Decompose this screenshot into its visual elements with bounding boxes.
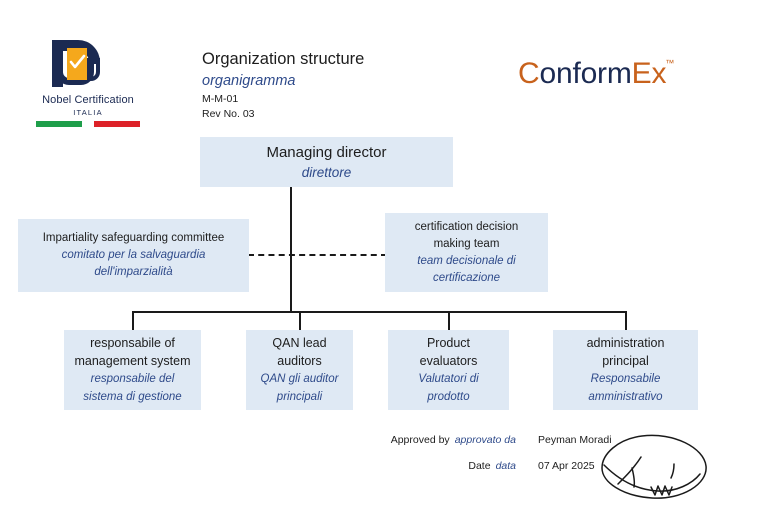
connector-drop-administration <box>625 311 627 331</box>
node-label-it-line2: prodotto <box>427 388 469 406</box>
date-row: Datedata 07 Apr 2025 <box>386 460 646 472</box>
node-label-it-line1: comitato per la salvaguardia <box>62 247 206 264</box>
date-value: 07 Apr 2025 <box>538 460 595 472</box>
page-title: Organization structure <box>202 48 364 70</box>
node-label-en: Managing director <box>266 142 386 163</box>
node-label-it-line2: sistema di gestione <box>83 388 181 406</box>
conformex-logo: ConformEx™ <box>518 52 675 91</box>
node-label-en-line1: responsabile of <box>90 334 175 352</box>
node-label-it-line1: Responsabile <box>591 370 661 388</box>
approval-block: Approved byapprovato da Peyman Moradi Da… <box>386 434 646 486</box>
node-certification-decision-making-team[interactable]: certification decision making team team … <box>385 213 548 292</box>
brand-part-ex: Ex <box>632 57 667 90</box>
approved-by-value: Peyman Moradi <box>538 434 612 446</box>
node-label-it: direttore <box>302 163 352 183</box>
node-label-it-line1: Valutatori di <box>418 370 478 388</box>
nobel-logo-icon <box>22 34 154 92</box>
node-label-it-line1: responsabile del <box>91 370 175 388</box>
logo-name: Nobel Certification <box>22 94 154 106</box>
brand-part-onform: onform <box>539 57 631 90</box>
node-label-it-line1: team decisionale di <box>417 253 515 270</box>
node-label-it-line1: QAN gli auditor <box>261 370 339 388</box>
connector-drop-product-evaluators <box>448 311 450 331</box>
connector-md-vertical <box>290 187 292 312</box>
brand-part-c: C <box>518 57 539 90</box>
document-title-block: Organization structure organigramma M-M-… <box>202 48 364 122</box>
node-label-en-line1: Product <box>427 334 470 352</box>
node-administration-principal[interactable]: administration principal Responsabile am… <box>553 330 698 410</box>
page-title-italian: organigramma <box>202 70 364 92</box>
node-product-evaluators[interactable]: Product evaluators Valutatori di prodott… <box>388 330 509 410</box>
trademark-icon: ™ <box>665 58 674 68</box>
nobel-certification-logo: Nobel Certification ITALIA <box>22 34 154 130</box>
document-code: M-M-01 <box>202 92 364 107</box>
node-label-en-line1: administration <box>587 334 665 352</box>
date-label: Datedata <box>386 460 516 472</box>
connector-dashed-committee-link <box>248 254 387 256</box>
node-label-it-line2: dell'imparzialità <box>94 264 172 281</box>
logo-country: ITALIA <box>22 108 154 117</box>
node-label-it-line2: principali <box>277 388 322 406</box>
connector-drop-management-system <box>132 311 134 331</box>
node-qan-lead-auditors[interactable]: QAN lead auditors QAN gli auditor princi… <box>246 330 353 410</box>
nobel-logo-mark <box>22 34 154 92</box>
approved-by-row: Approved byapprovato da Peyman Moradi <box>386 434 646 446</box>
italian-flag-icon <box>22 121 154 127</box>
flag-red-bar <box>94 121 140 127</box>
node-label-en-line2: auditors <box>277 352 321 370</box>
node-label-en-line2: making team <box>434 236 500 253</box>
node-label-en: Impartiality safeguarding committee <box>43 230 225 247</box>
node-label-it-line2: certificazione <box>433 270 500 287</box>
approved-by-label: Approved byapprovato da <box>386 434 516 446</box>
approved-by-label-en: Approved by <box>391 434 450 446</box>
node-label-en-line1: certification decision <box>415 219 519 236</box>
connector-horizontal-bar <box>132 311 626 313</box>
flag-green-bar <box>36 121 82 127</box>
node-label-en-line1: QAN lead <box>272 334 326 352</box>
node-responsabile-management-system[interactable]: responsabile of management system respon… <box>64 330 201 410</box>
connector-drop-lead-auditors <box>299 311 301 331</box>
node-label-en-line2: principal <box>602 352 649 370</box>
node-label-en-line2: management system <box>74 352 190 370</box>
date-label-it: data <box>496 460 516 472</box>
approved-by-label-it: approvato da <box>455 434 516 446</box>
node-label-en-line2: evaluators <box>420 352 478 370</box>
node-managing-director[interactable]: Managing director direttore <box>200 137 453 187</box>
node-label-it-line2: amministrativo <box>588 388 662 406</box>
node-impartiality-safeguarding-committee[interactable]: Impartiality safeguarding committee comi… <box>18 219 249 292</box>
organization-chart-page: Nobel Certification ITALIA Organization … <box>0 0 757 522</box>
document-revision: Rev No. 03 <box>202 107 364 122</box>
date-label-en: Date <box>468 460 490 472</box>
